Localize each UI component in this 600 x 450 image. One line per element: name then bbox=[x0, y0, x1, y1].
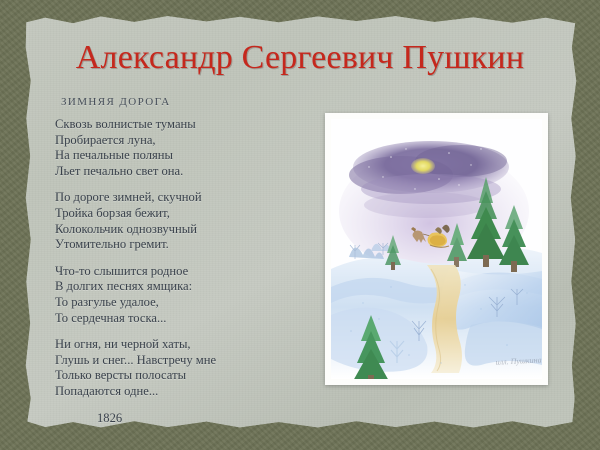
poem-line: Колокольчик однозвучный bbox=[55, 222, 305, 238]
poem-line: То разгулье удалое, bbox=[55, 295, 305, 311]
poem-line: Тройка борзая бежит, bbox=[55, 206, 305, 222]
poem-line: Только версты полосаты bbox=[55, 368, 305, 384]
poem-line: Льет печально свет она. bbox=[55, 164, 305, 180]
poem-block: ЗИМНЯЯ ДОРОГА Сквозь волнистые туманы Пр… bbox=[55, 96, 305, 426]
page-title: Александр Сергеевич Пушкин bbox=[0, 40, 600, 76]
poem-stanza: Сквозь волнистые туманы Пробирается луна… bbox=[55, 117, 305, 179]
poem-stanza: Что-то слышится родное В долгих песнях я… bbox=[55, 264, 305, 326]
poem-stanza: По дороге зимней, скучной Тройка борзая … bbox=[55, 190, 305, 252]
artist-signature: илл. Пушкина bbox=[479, 355, 542, 380]
poem-line: Ни огня, ни черной хаты, bbox=[55, 337, 305, 353]
poem-subtitle: ЗИМНЯЯ ДОРОГА bbox=[61, 96, 305, 108]
poem-line: Попадаются одне... bbox=[55, 384, 305, 400]
poem-year: 1826 bbox=[97, 411, 305, 426]
poem-line: Пробирается луна, bbox=[55, 133, 305, 149]
winter-road-illustration bbox=[331, 119, 542, 379]
poem-line: Глушь и снег... Навстречу мне bbox=[55, 353, 305, 369]
poem-line: В долгих песнях ямщика: bbox=[55, 279, 305, 295]
poem-line: Сквозь волнистые туманы bbox=[55, 117, 305, 133]
poem-line: Что-то слышится родное bbox=[55, 264, 305, 280]
poem-line: По дороге зимней, скучной bbox=[55, 190, 305, 206]
presentation-slide: Александр Сергеевич Пушкин ЗИМНЯЯ ДОРОГА… bbox=[0, 0, 600, 450]
illustration-frame: илл. Пушкина bbox=[325, 113, 548, 385]
poem-line: Утомительно гремит. bbox=[55, 237, 305, 253]
poem-line: То сердечная тоска... bbox=[55, 311, 305, 327]
poem-stanza: Ни огня, ни черной хаты, Глушь и снег...… bbox=[55, 337, 305, 399]
poem-line: На печальные поляны bbox=[55, 148, 305, 164]
